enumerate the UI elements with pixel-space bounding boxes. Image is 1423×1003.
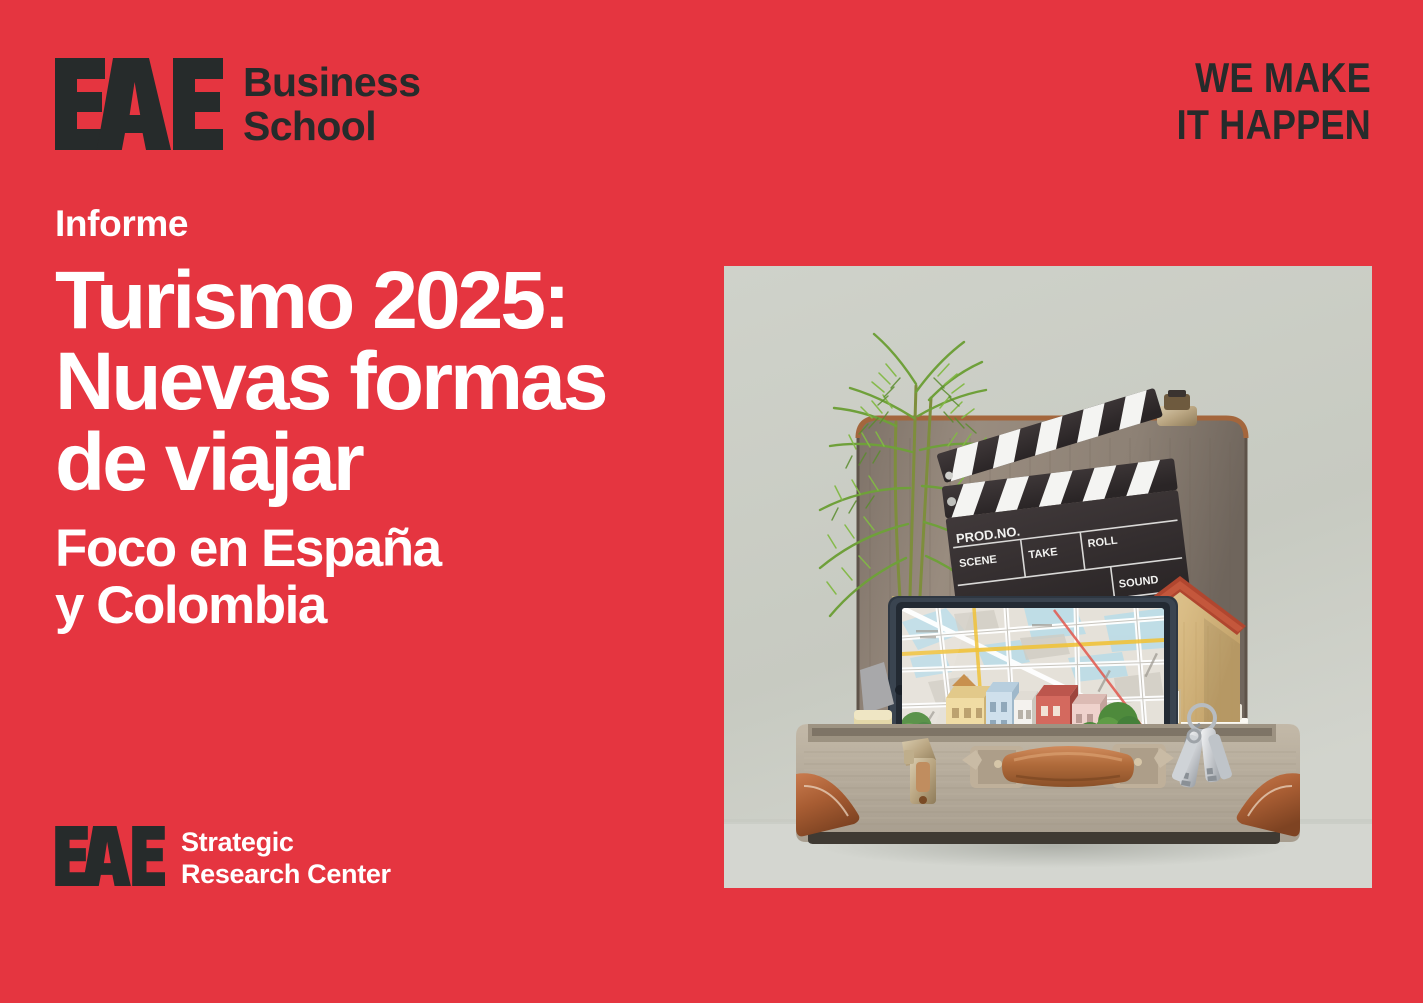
- subtitle-line-2: y Colombia: [55, 577, 695, 634]
- brand-bottom-line2: Research Center: [181, 859, 391, 891]
- brand-top-line2: School: [243, 104, 420, 148]
- brand-top-wordmark: Business School: [243, 58, 420, 149]
- brand-bottom-line1: Strategic: [181, 827, 391, 859]
- title-line-2: Nuevas formas: [55, 341, 695, 422]
- tagline-line1: WE MAKE: [1177, 54, 1371, 101]
- page-subtitle: Foco en España y Colombia: [55, 520, 695, 634]
- tagline: WE MAKE IT HAPPEN: [1177, 54, 1371, 148]
- report-kicker: Informe: [55, 205, 695, 242]
- cover-photo: PROD.NO. SCENE TAKE ROLL SOUND DATE: [724, 266, 1372, 888]
- brand-logo-top: Business School: [55, 58, 420, 150]
- subtitle-line-1: Foco en España: [55, 520, 695, 577]
- page-title: Turismo 2025: Nuevas formas de viajar: [55, 260, 695, 504]
- eae-logotype-icon-bottom: [55, 826, 165, 886]
- headline-block: Informe Turismo 2025: Nuevas formas de v…: [55, 205, 695, 634]
- tagline-line2: IT HAPPEN: [1177, 101, 1371, 148]
- brand-top-line1: Business: [243, 60, 420, 104]
- report-cover: Business School WE MAKE IT HAPPEN Inform…: [0, 0, 1423, 1003]
- brand-bottom-wordmark: Strategic Research Center: [181, 826, 391, 890]
- brand-logo-bottom: Strategic Research Center: [55, 826, 391, 890]
- title-line-1: Turismo 2025:: [55, 260, 695, 341]
- title-line-3: de viajar: [55, 422, 695, 503]
- eae-logotype-icon: [55, 58, 223, 150]
